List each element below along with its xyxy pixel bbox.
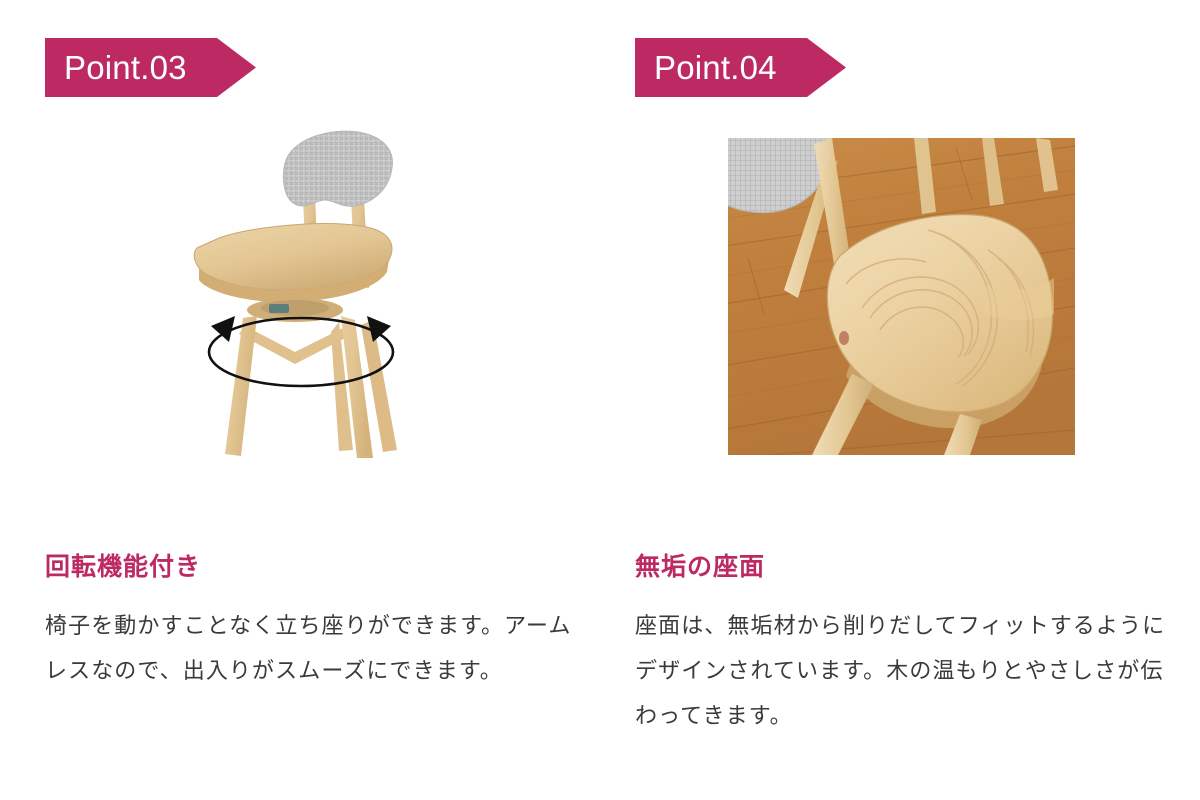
point-body-03: 椅子を動かすことなく立ち座りができます。アームレスなので、出入りがスムーズにでき…	[45, 603, 579, 693]
point-banner-04: Point.04	[635, 38, 846, 97]
point-banner-03: Point.03	[45, 38, 256, 97]
point-heading-03: 回転機能付き	[45, 547, 201, 583]
point-heading-04: 無垢の座面	[635, 547, 765, 583]
swivel-chair-illustration-icon	[183, 120, 513, 470]
point-section-04: Point.04	[633, 0, 1193, 800]
page-root: Point.03	[0, 0, 1200, 800]
point-banner-label-03: Point.03	[64, 38, 187, 97]
point-body-04: 座面は、無垢材から削りだしてフィットするようにデザインされています。木の温もりと…	[635, 603, 1169, 738]
point-banner-label-04: Point.04	[654, 38, 777, 97]
solid-wood-seat-photo-icon	[728, 138, 1075, 455]
swivel-chair-photo	[183, 120, 513, 470]
point-section-03: Point.03	[43, 0, 603, 800]
solid-wood-seat-photo	[728, 138, 1075, 455]
